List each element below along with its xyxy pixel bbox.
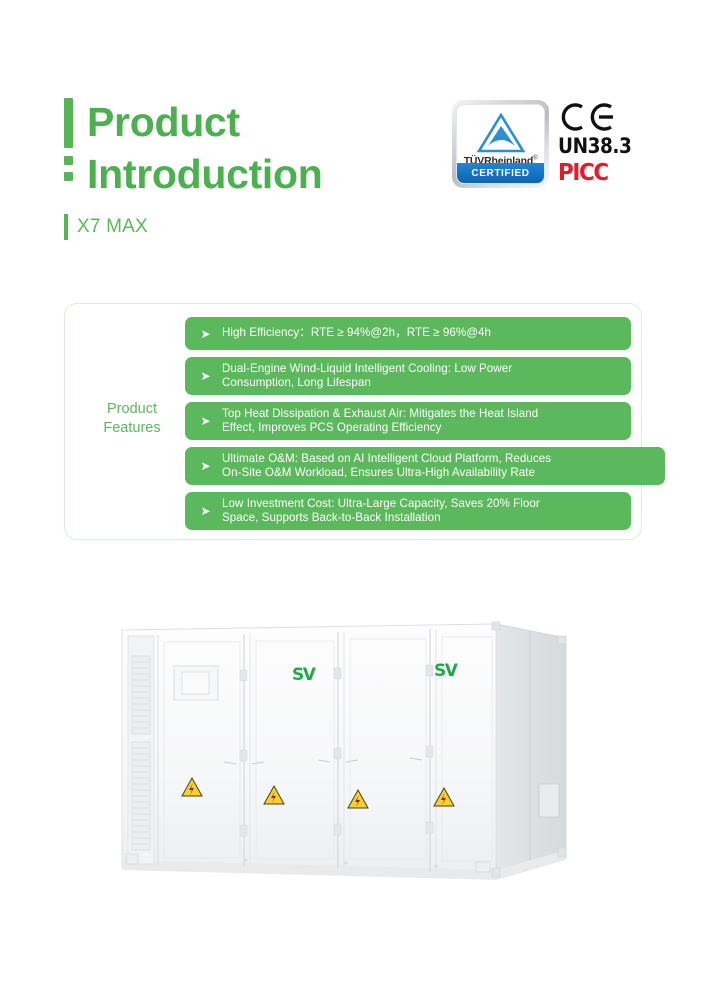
- title-line-2-row: Introduction: [64, 148, 323, 200]
- feature-text-line2: Space, Supports Back-to-Back Installatio…: [222, 511, 540, 526]
- product-model-subtitle: X7 MAX: [77, 216, 148, 238]
- feature-text-wrap: Dual-Engine Wind-Liquid Intelligent Cool…: [222, 362, 512, 391]
- feature-item[interactable]: ➤ Top Heat Dissipation & Exhaust Air: Mi…: [185, 402, 631, 440]
- feature-text-line1: Top Heat Dissipation & Exhaust Air: Miti…: [222, 407, 538, 422]
- page-root: Product Introduction X7 MAX: [0, 0, 707, 999]
- accent-bar-dots-icon: [64, 148, 73, 181]
- tuv-certified-banner: CERTIFIED: [457, 163, 544, 183]
- feature-text-line1: Ultimate O&M: Based on AI Intelligent Cl…: [222, 452, 551, 467]
- feature-text-wrap: Top Heat Dissipation & Exhaust Air: Miti…: [222, 407, 538, 436]
- page-header: Product Introduction X7 MAX: [0, 0, 707, 260]
- accent-bar-tall-icon: [64, 98, 73, 148]
- feature-item[interactable]: ➤ Low Investment Cost: Ultra-Large Capac…: [185, 492, 631, 530]
- feature-item[interactable]: ➤ High Efficiency：RTE ≥ 94%@2h，RTE ≥ 96%…: [185, 317, 631, 350]
- compliance-marks: UN38.3 PICC: [558, 100, 641, 186]
- feature-text-line2: Consumption, Long Lifespan: [222, 376, 512, 391]
- feature-text-line1: Dual-Engine Wind-Liquid Intelligent Cool…: [222, 362, 512, 377]
- product-features-panel: Product Features ➤ High Efficiency：RTE ≥…: [64, 303, 642, 540]
- features-label-line2: Features: [77, 419, 187, 438]
- feature-text: High Efficiency：RTE ≥ 94%@2h，RTE ≥ 96%@4…: [222, 326, 491, 341]
- product-image: SV SV: [96, 610, 636, 900]
- svg-text:SV: SV: [292, 665, 317, 685]
- features-list: ➤ High Efficiency：RTE ≥ 94%@2h，RTE ≥ 96%…: [185, 317, 631, 537]
- tuv-triangle-icon: [457, 112, 544, 154]
- ce-mark-icon: [558, 102, 641, 132]
- arrow-right-icon: ➤: [197, 460, 214, 472]
- tuv-rheinland-badge: TÜVRheinland® CERTIFIED: [452, 100, 549, 188]
- arrow-right-icon: ➤: [197, 328, 214, 340]
- arrow-right-icon: ➤: [197, 505, 214, 517]
- accent-bar-thin-icon: [64, 214, 68, 240]
- feature-text-line2: On-Site O&M Workload, Ensures Ultra-High…: [222, 466, 551, 481]
- features-panel-label: Product Features: [77, 400, 187, 438]
- picc-mark: PICC: [558, 160, 636, 186]
- feature-text-line1: Low Investment Cost: Ultra-Large Capacit…: [222, 497, 540, 512]
- feature-text-wrap: Low Investment Cost: Ultra-Large Capacit…: [222, 497, 540, 526]
- subtitle-row: X7 MAX: [64, 214, 323, 240]
- certification-logos: TÜVRheinland® CERTIFIED UN38.3 PICC: [452, 100, 641, 188]
- feature-text-line2: Effect, Improves PCS Operating Efficienc…: [222, 421, 538, 436]
- un38-3-mark: UN38.3: [558, 134, 631, 158]
- features-label-line1: Product: [77, 400, 187, 419]
- arrow-right-icon: ➤: [197, 370, 214, 382]
- title-line-1-row: Product: [64, 96, 323, 148]
- arrow-right-icon: ➤: [197, 415, 214, 427]
- tuv-badge-inner: TÜVRheinland® CERTIFIED: [456, 104, 545, 184]
- title-block: Product Introduction X7 MAX: [64, 96, 323, 240]
- page-title-line2: Introduction: [87, 148, 323, 200]
- svg-text:SV: SV: [434, 661, 459, 681]
- bess-container-illustration: SV SV: [96, 610, 636, 900]
- feature-item[interactable]: ➤ Ultimate O&M: Based on AI Intelligent …: [185, 447, 665, 485]
- feature-item[interactable]: ➤ Dual-Engine Wind-Liquid Intelligent Co…: [185, 357, 631, 395]
- page-title-line1: Product: [87, 96, 240, 148]
- feature-text-wrap: Ultimate O&M: Based on AI Intelligent Cl…: [222, 452, 551, 481]
